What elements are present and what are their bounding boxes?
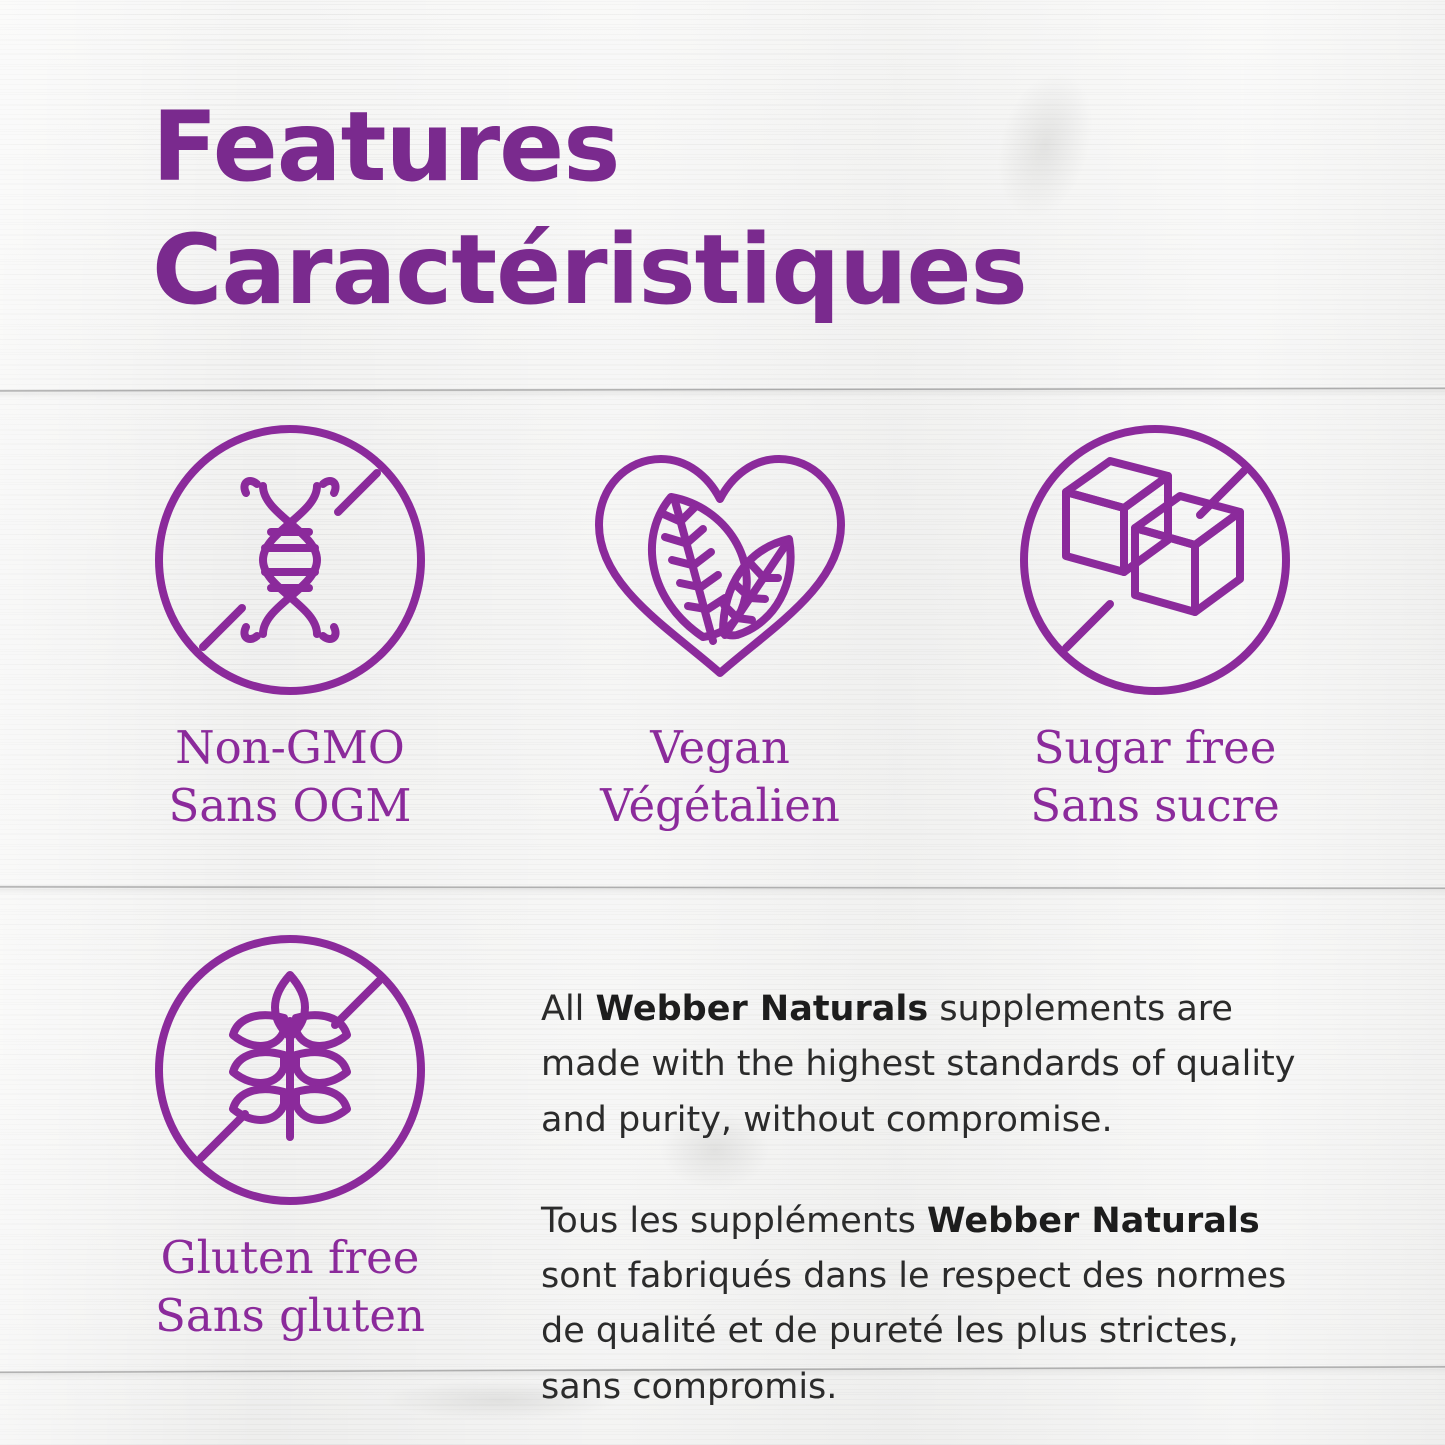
- feature-caption: Gluten free Sans gluten: [145, 1229, 435, 1344]
- brand-name-en: Webber Naturals: [596, 989, 929, 1029]
- brand-statement-en: All Webber Naturals supplements are made…: [541, 982, 1321, 1148]
- statement-en-before: All: [541, 989, 596, 1029]
- plank-seam: [0, 387, 1445, 393]
- feature-non-gmo: Non-GMO Sans OGM: [145, 415, 435, 834]
- heart-leaves-icon: [575, 415, 865, 705]
- brand-name-fr: Webber Naturals: [927, 1201, 1260, 1241]
- feature-label-fr: Sans gluten: [145, 1287, 435, 1345]
- page-title-en: Features: [152, 86, 1027, 209]
- page-title-fr: Caractéristiques: [152, 209, 1027, 332]
- feature-gluten-free: Gluten free Sans gluten: [145, 925, 435, 1344]
- feature-label-en: Gluten free: [145, 1229, 435, 1287]
- feature-caption: Vegan Végétalien: [575, 719, 865, 834]
- page-title: Features Caractéristiques: [152, 86, 1027, 332]
- wheat-no-icon: [145, 925, 435, 1215]
- feature-label-en: Vegan: [575, 719, 865, 777]
- sugar-cubes-no-icon: [1010, 415, 1300, 705]
- feature-vegan: Vegan Végétalien: [575, 415, 865, 834]
- brand-statement-fr: Tous les suppléments Webber Naturals son…: [541, 1194, 1321, 1415]
- statement-fr-after: sont fabriqués dans le respect des norme…: [541, 1256, 1286, 1407]
- plank-seam: [0, 885, 1445, 890]
- feature-panel: Features Caractéristiques: [0, 0, 1445, 1445]
- feature-caption: Non-GMO Sans OGM: [145, 719, 435, 834]
- feature-label-fr: Sans sucre: [1010, 777, 1300, 835]
- feature-label-en: Sugar free: [1010, 719, 1300, 777]
- feature-label-fr: Végétalien: [575, 777, 865, 835]
- statement-fr-before: Tous les suppléments: [541, 1201, 927, 1241]
- feature-label-en: Non-GMO: [145, 719, 435, 777]
- feature-sugar-free: Sugar free Sans sucre: [1010, 415, 1300, 834]
- brand-statement: All Webber Naturals supplements are made…: [541, 982, 1321, 1415]
- feature-caption: Sugar free Sans sucre: [1010, 719, 1300, 834]
- dna-no-icon: [145, 415, 435, 705]
- feature-label-fr: Sans OGM: [145, 777, 435, 835]
